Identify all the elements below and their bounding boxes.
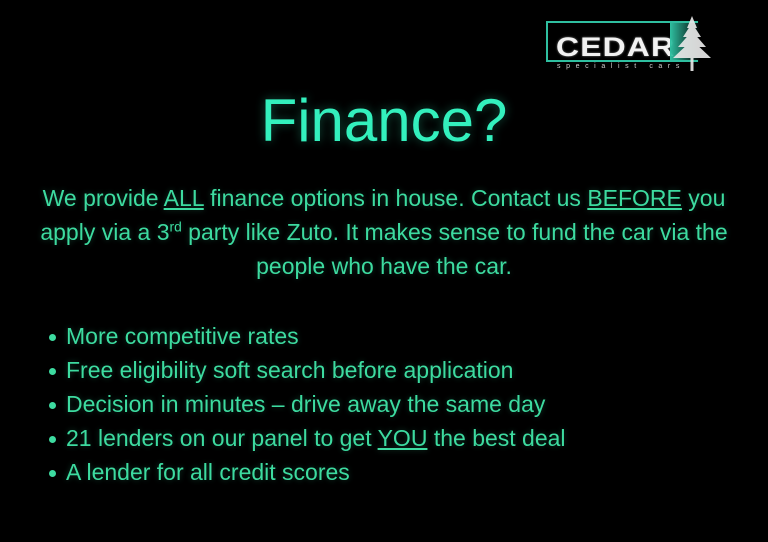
list-item: A lender for all credit scores — [44, 461, 744, 484]
list-item: More competitive rates — [44, 325, 744, 348]
list-item: Decision in minutes – drive away the sam… — [44, 393, 744, 416]
slide-title: Finance? — [0, 88, 768, 154]
paragraph-emphasis-all: ALL — [164, 185, 204, 211]
slide-canvas: CEDAR specialist cars Finance? We provid… — [0, 0, 768, 542]
paragraph-text-a: We provide — [43, 185, 164, 211]
pine-tree-icon — [664, 14, 720, 76]
paragraph-text-d: party like Zuto. It makes sense to fund … — [182, 219, 728, 279]
bullet-dot-icon — [49, 470, 56, 477]
bullet-dot-icon — [49, 402, 56, 409]
intro-paragraph: We provide ALL finance options in house.… — [18, 182, 750, 283]
bullet-dot-icon — [49, 436, 56, 443]
paragraph-text-b: finance options in house. Contact us — [204, 185, 588, 211]
list-item: Free eligibility soft search before appl… — [44, 359, 744, 382]
logo-wordmark: CEDAR — [556, 34, 675, 61]
list-item-label: A lender for all credit scores — [66, 459, 350, 485]
list-item-emphasis-you: YOU — [378, 425, 428, 451]
brand-logo: CEDAR specialist cars — [546, 14, 730, 70]
paragraph-ordinal-suffix: rd — [169, 219, 181, 234]
bullet-dot-icon — [49, 334, 56, 341]
list-item-label: Free eligibility soft search before appl… — [66, 357, 513, 383]
list-item: 21 lenders on our panel to get YOU the b… — [44, 427, 744, 450]
list-item-label-prefix: 21 lenders on our panel to get — [66, 425, 378, 451]
benefits-list: More competitive rates Free eligibility … — [44, 325, 744, 495]
list-item-label: Decision in minutes – drive away the sam… — [66, 391, 545, 417]
paragraph-emphasis-before: BEFORE — [587, 185, 682, 211]
list-item-label-suffix: the best deal — [427, 425, 565, 451]
list-item-label: More competitive rates — [66, 323, 299, 349]
bullet-dot-icon — [49, 368, 56, 375]
